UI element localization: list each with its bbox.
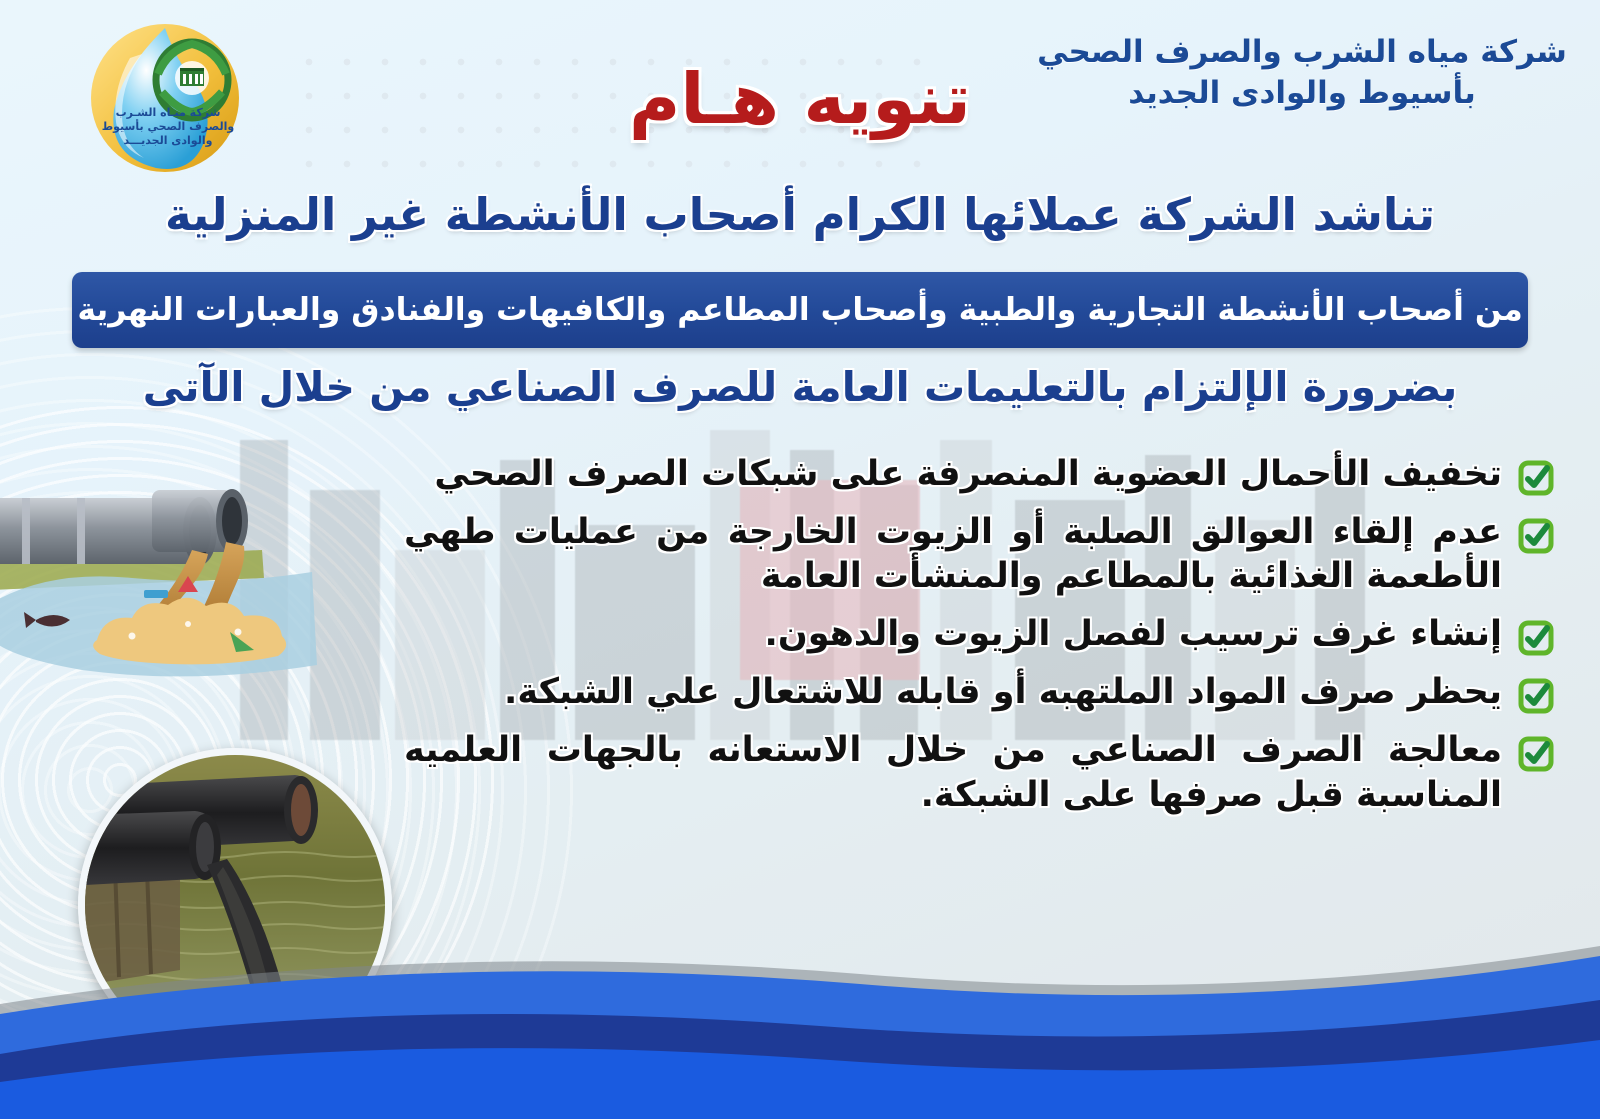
guidelines-list: تخفيف الأحمال العضوية المنصرفة على شبكات… [404, 452, 1554, 831]
green-check-box-icon [1518, 620, 1554, 656]
audience-banner-text: من أصحاب الأنشطة التجارية والطبية وأصحاب… [77, 292, 1522, 328]
list-item-label: يحظر صرف المواد الملتهبه أو قابله للاشتع… [404, 670, 1502, 714]
poster-canvas: شركة ميـاه الشـرب والصرف الصحي بأسيوط وا… [0, 0, 1600, 1119]
green-check-box-icon [1518, 736, 1554, 772]
page-title: تنويه هـام [0, 58, 1600, 140]
instruction-heading: بضرورة الإلتزام بالتعليمات العامة للصرف … [130, 362, 1470, 414]
list-item: معالجة الصرف الصناعي من خلال الاستعانه ب… [404, 728, 1554, 816]
list-item: إنشاء غرف ترسيب لفصل الزيوت والدهون. [404, 612, 1554, 656]
audience-banner: من أصحاب الأنشطة التجارية والطبية وأصحاب… [72, 272, 1528, 348]
green-check-box-icon [1518, 678, 1554, 714]
list-item-label: عدم إلقاء العوالق الصلبة أو الزيوت الخار… [404, 510, 1502, 598]
subtitle-text: تناشد الشركة عملائها الكرام أصحاب الأنشط… [60, 188, 1540, 241]
bottom-wave-decoration [0, 904, 1600, 1119]
list-item: عدم إلقاء العوالق الصلبة أو الزيوت الخار… [404, 510, 1554, 598]
green-check-box-icon [1518, 460, 1554, 496]
list-item-label: تخفيف الأحمال العضوية المنصرفة على شبكات… [404, 452, 1502, 496]
list-item-label: معالجة الصرف الصناعي من خلال الاستعانه ب… [404, 728, 1502, 816]
list-item: يحظر صرف المواد الملتهبه أو قابله للاشتع… [404, 670, 1554, 714]
green-check-box-icon [1518, 518, 1554, 554]
list-item-label: إنشاء غرف ترسيب لفصل الزيوت والدهون. [404, 612, 1502, 656]
sewage-pipes-illustration [0, 450, 322, 700]
list-item: تخفيف الأحمال العضوية المنصرفة على شبكات… [404, 452, 1554, 496]
